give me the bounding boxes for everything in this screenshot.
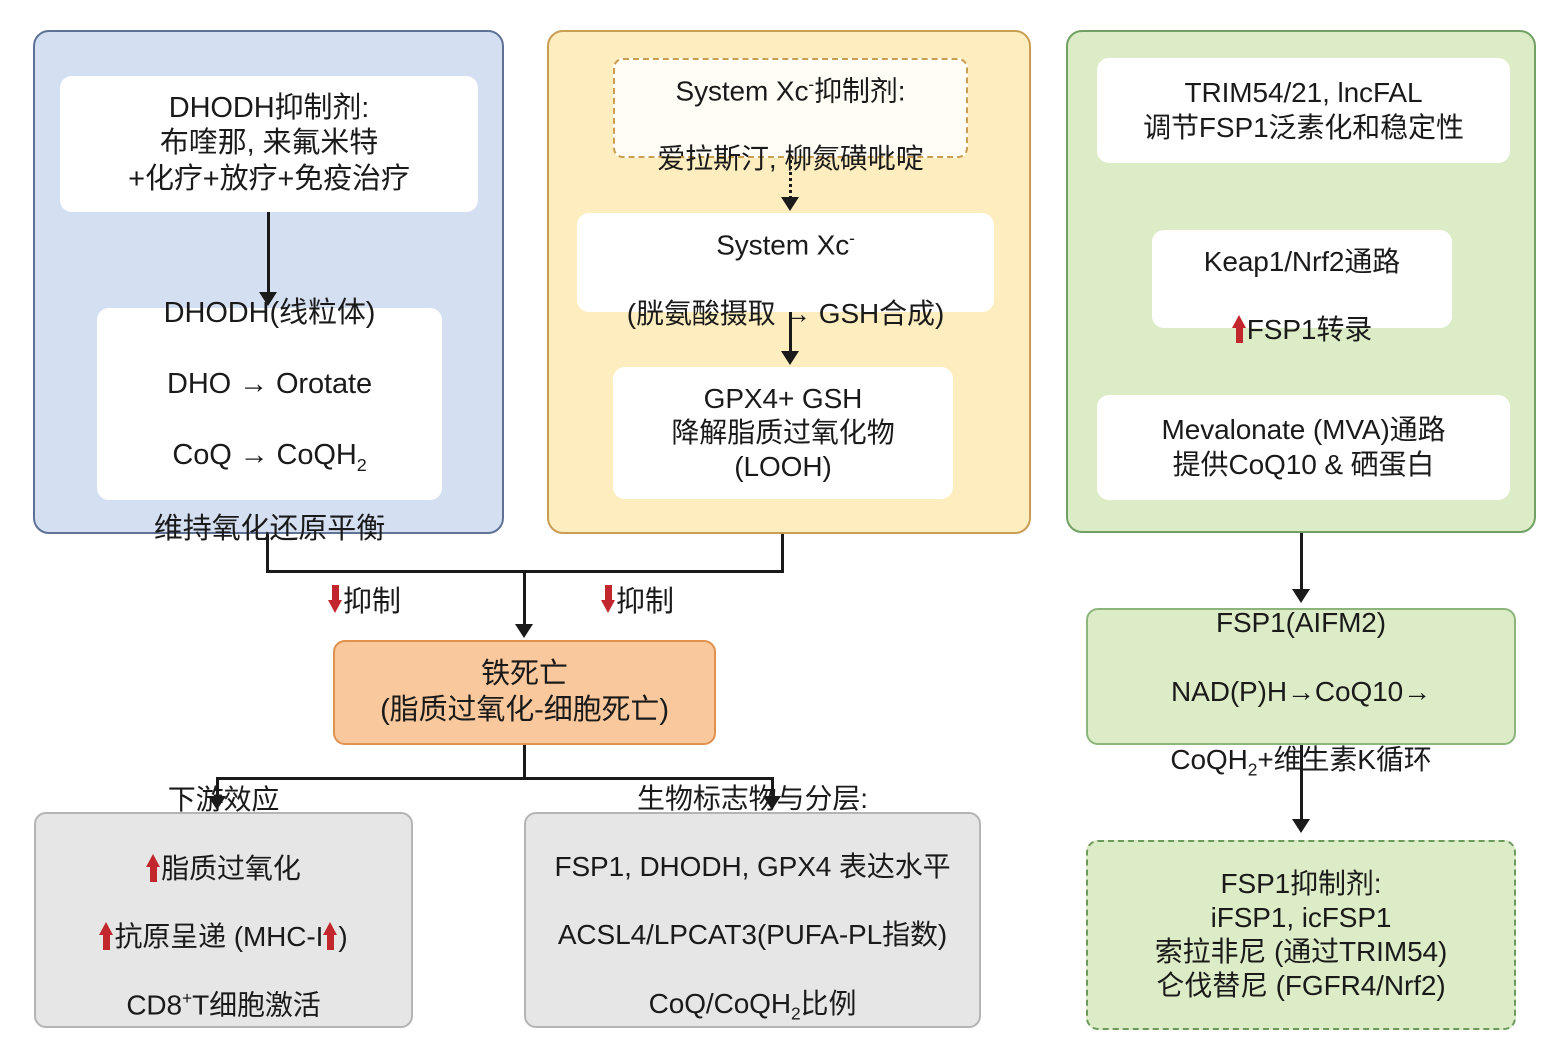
edge-to-biomarker-arrowhead <box>763 796 781 810</box>
node-systemxc: System Xc- (胱氨酸摄取 → GSH合成) <box>577 213 994 312</box>
node-gpx4-gsh: GPX4+ GSH 降解脂质过氧化物 (LOOH) <box>613 367 953 499</box>
edge-merge-to-ferroptosis-arrowhead <box>515 624 533 638</box>
node-systemxc-inhibitor-text: System Xc-抑制剂: 爱拉斯汀, 柳氮磺吡啶 <box>657 40 923 177</box>
red-up-arrow-icon-mhc <box>323 922 338 950</box>
biomarker-line-1: 生物标志物与分层: <box>637 783 868 814</box>
edge-xc-to-gpx4-line <box>789 312 792 353</box>
biomarker-line-4a: CoQ/CoQH <box>649 988 791 1019</box>
node-dhodh-inhibitor-text: DHODH抑制剂: 布喹那, 来氟米特 +化疗+放疗+免疫治疗 <box>128 91 410 197</box>
red-down-arrow-icon-left <box>328 585 343 613</box>
node-fsp1-inhibitors-text: FSP1抑制剂: iFSP1, icFSP1 索拉非尼 (通过TRIM54) 仑… <box>1155 867 1448 1004</box>
downstream-line-2: 脂质过氧化 <box>161 853 301 884</box>
edge-ferroptosis-split-horizontal <box>217 777 773 780</box>
edge-yellow-panel-down-stub <box>781 534 784 573</box>
edge-fsp1-to-fsp1-inhibitor-arrowhead <box>1292 819 1310 833</box>
downstream-line-4a: CD8 <box>126 989 182 1020</box>
edge-xc-inhibitor-to-xc-dotted-line <box>789 160 792 199</box>
biomarker-line-4b: 比例 <box>801 988 857 1019</box>
red-down-arrow-icon-right <box>601 585 616 613</box>
fsp1-line-3a: CoQH <box>1170 744 1247 775</box>
fsp1-line-3b: +维生素K循环 <box>1257 744 1431 775</box>
edge-dhodh-inhibitor-to-dhodh-line <box>267 212 270 294</box>
edge-fsp1-to-fsp1-inhibitor-line <box>1300 745 1303 821</box>
red-up-arrow-icon-lipid <box>146 854 161 882</box>
node-mevalonate-pathway: Mevalonate (MVA)通路 提供CoQ10 & 硒蛋白 <box>1097 395 1510 500</box>
keap1-line-2: FSP1转录 <box>1247 314 1372 345</box>
label-inhibit-left: 抑制 <box>328 578 401 620</box>
edge-green-panel-to-fsp1-line <box>1300 533 1303 591</box>
xc-system-line-1a: System Xc <box>716 230 849 261</box>
biomarker-line-2: FSP1, DHODH, GPX4 表达水平 <box>554 851 950 882</box>
node-ferroptosis-text: 铁死亡 (脂质过氧化-细胞死亡) <box>380 657 669 728</box>
node-trim54-21-lncfal-text: TRIM54/21, lncFAL 调节FSP1泛素化和稳定性 <box>1143 76 1464 144</box>
node-fsp1-aifm2: FSP1(AIFM2) NAD(P)H→CoQ10→ CoQH2+维生素K循环 <box>1086 608 1516 745</box>
node-trim54-21-lncfal: TRIM54/21, lncFAL 调节FSP1泛素化和稳定性 <box>1097 58 1510 163</box>
edge-xc-to-gpx4-arrowhead <box>781 351 799 365</box>
node-downstream-effects-text: 下游效应 脂质过氧化 抗原呈递 (MHC-I) CD8+T细胞激活 协同作用:抗… <box>94 749 353 1045</box>
xc-inhibitor-line-1a: System Xc <box>676 75 809 106</box>
xc-system-line-2: (胱氨酸摄取 → GSH合成) <box>627 298 944 329</box>
node-gpx4-gsh-text: GPX4+ GSH 降解脂质过氧化物 (LOOH) <box>671 382 894 484</box>
dhodh-mito-line-4: 维持氧化还原平衡 <box>154 513 385 545</box>
node-downstream-effects: 下游效应 脂质过氧化 抗原呈递 (MHC-I) CD8+T细胞激活 协同作用:抗… <box>34 812 413 1028</box>
dhodh-mito-line-3-subscript: 2 <box>357 455 367 475</box>
downstream-line-3a: 抗原呈递 (MHC-I <box>114 921 323 952</box>
xc-inhibitor-line-1b: 抑制剂: <box>814 75 905 106</box>
node-keap1-nrf2-text: Keap1/Nrf2通路 FSP1转录 <box>1204 211 1400 348</box>
node-systemxc-inhibitor: System Xc-抑制剂: 爱拉斯汀, 柳氮磺吡啶 <box>613 58 968 158</box>
node-ferroptosis: 铁死亡 (脂质过氧化-细胞死亡) <box>333 640 716 745</box>
label-inhibit-right: 抑制 <box>601 578 674 620</box>
downstream-line-4-superscript: + <box>182 988 192 1008</box>
node-keap1-nrf2: Keap1/Nrf2通路 FSP1转录 <box>1152 230 1452 328</box>
keap1-line-1: Keap1/Nrf2通路 <box>1204 246 1400 277</box>
edge-ferroptosis-down-stub <box>523 745 526 780</box>
biomarker-line-3: ACSL4/LPCAT3(PUFA-PL指数) <box>558 919 947 950</box>
edge-dhodh-inhibitor-to-dhodh-arrowhead <box>259 292 277 306</box>
dhodh-mito-line-3a: CoQ → CoQH <box>172 439 356 471</box>
node-systemxc-text: System Xc- (胱氨酸摄取 → GSH合成) <box>627 194 944 331</box>
node-dhodh-inhibitor: DHODH抑制剂: 布喹那, 来氟米特 +化疗+放疗+免疫治疗 <box>60 76 478 212</box>
dhodh-mito-line-2: DHO → Orotate <box>167 368 372 400</box>
node-dhodh-mitochondria: DHODH(线粒体) DHO → Orotate CoQ → CoQH2 维持氧… <box>97 308 442 500</box>
label-inhibit-left-text: 抑制 <box>343 578 401 620</box>
downstream-line-4b: T细胞激活 <box>192 989 321 1020</box>
edge-merge-to-ferroptosis-line <box>523 570 526 626</box>
edge-green-panel-to-fsp1-arrowhead <box>1292 589 1310 603</box>
edge-to-downstream-arrowhead <box>208 796 226 810</box>
node-fsp1-inhibitors: FSP1抑制剂: iFSP1, icFSP1 索拉非尼 (通过TRIM54) 仑… <box>1086 840 1516 1030</box>
biomarker-line-4-subscript: 2 <box>791 1003 801 1023</box>
xc-system-superscript-minus: - <box>849 228 855 248</box>
red-up-arrow-icon-antigen <box>99 922 114 950</box>
label-inhibit-right-text: 抑制 <box>616 578 674 620</box>
fsp1-line-1: FSP1(AIFM2) <box>1216 607 1386 638</box>
edge-xc-inhibitor-to-xc-arrowhead <box>781 197 799 211</box>
node-biomarkers-stratification-text: 生物标志物与分层: FSP1, DHODH, GPX4 表达水平 ACSL4/L… <box>554 747 950 1045</box>
node-mevalonate-pathway-text: Mevalonate (MVA)通路 提供CoQ10 & 硒蛋白 <box>1162 413 1446 481</box>
fsp1-line-3-subscript: 2 <box>1248 760 1258 780</box>
edge-blue-panel-down-stub <box>266 534 269 573</box>
red-up-arrow-icon <box>1232 315 1247 343</box>
downstream-line-3b: ) <box>338 921 347 952</box>
node-biomarkers-stratification: 生物标志物与分层: FSP1, DHODH, GPX4 表达水平 ACSL4/L… <box>524 812 981 1028</box>
fsp1-line-2: NAD(P)H→CoQ10→ <box>1171 676 1431 707</box>
diagram-canvas: DHODH抑制剂: 布喹那, 来氟米特 +化疗+放疗+免疫治疗 DHODH(线粒… <box>0 0 1562 1045</box>
